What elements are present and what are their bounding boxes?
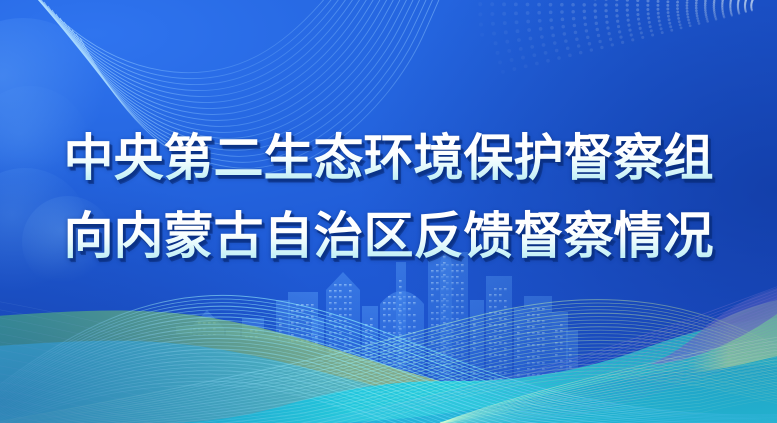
ribbon-line <box>440 384 777 423</box>
ribbon-line <box>0 344 777 423</box>
ribbon-line <box>0 349 777 423</box>
ribbon-line <box>0 353 777 423</box>
ribbon-line <box>0 338 777 423</box>
ribbon-line <box>0 372 520 423</box>
ribbon-line <box>0 340 777 423</box>
page-title-line-2: 向内蒙古自治区反馈督察情况 <box>0 200 777 272</box>
wave-band-deep-blue <box>0 335 777 423</box>
ribbon-line <box>0 334 777 423</box>
ribbon-line <box>0 295 777 414</box>
ribbon-line <box>440 387 777 423</box>
ribbon-line <box>0 360 777 423</box>
ribbon-line <box>300 309 777 423</box>
ribbon-line <box>0 367 777 423</box>
ribbon-line <box>0 337 777 423</box>
building-shape <box>428 252 468 400</box>
ribbon-line <box>0 303 777 423</box>
ribbon-line <box>0 385 777 423</box>
building-shape <box>396 262 406 400</box>
ribbon-line <box>300 294 777 423</box>
building-shape <box>242 318 264 400</box>
building-shape <box>176 326 192 400</box>
ribbon-line <box>0 306 777 418</box>
ribbon-line <box>0 300 520 423</box>
ribbon-line <box>0 323 777 423</box>
ribbon-line <box>0 371 777 423</box>
ribbon-line <box>0 356 777 423</box>
ribbon-line <box>0 348 520 423</box>
wave-band-green-right <box>600 300 777 378</box>
ribbon-line <box>300 339 777 423</box>
ribbon-line <box>0 335 777 423</box>
ribbon-line <box>300 306 777 423</box>
ribbon-line <box>0 328 777 423</box>
building-shape <box>380 291 424 400</box>
ribbon-line <box>440 378 777 423</box>
ribbon-line <box>0 317 777 423</box>
ribbon-line <box>0 300 777 423</box>
ribbon-line <box>440 371 777 423</box>
ribbon-line <box>0 356 520 423</box>
ribbon-line <box>300 282 777 423</box>
ribbon-line <box>0 347 777 423</box>
ribbon-line <box>300 291 777 423</box>
ribbon-line <box>440 394 777 423</box>
ribbon-line <box>0 342 777 423</box>
ribbon-line <box>0 357 777 423</box>
ribbon-line <box>0 331 777 423</box>
ribbon-line <box>0 303 777 418</box>
ribbon-line <box>300 345 777 423</box>
wave-band-cyan-left <box>0 341 777 423</box>
ribbon-line <box>440 339 777 423</box>
ribbon-line <box>0 299 777 416</box>
ribbon-line <box>440 346 777 423</box>
ribbon-line <box>300 333 777 423</box>
ribbon-line <box>0 310 777 420</box>
ribbon-line <box>0 378 777 423</box>
ribbon-line <box>0 340 520 423</box>
ribbon-line <box>440 349 777 423</box>
ribbon-line <box>440 374 777 423</box>
ribbon-line <box>300 288 777 423</box>
poster-banner: 中央第二生态环境保护督察组 向内蒙古自治区反馈督察情况 中央第二生态环境保护督察… <box>0 0 777 423</box>
ribbon-line <box>0 324 777 423</box>
ribbon-line <box>0 371 777 423</box>
building-shape <box>156 336 174 400</box>
building-shape <box>486 276 512 400</box>
ribbon-line <box>0 363 777 423</box>
ribbon-line <box>0 320 777 423</box>
ribbon-line <box>300 300 777 423</box>
wave-band-green <box>0 311 777 423</box>
ribbon-line <box>0 321 777 423</box>
building-shape <box>136 344 152 400</box>
building-shape <box>470 300 484 400</box>
building-shape <box>524 296 552 400</box>
ribbon-line <box>300 327 777 423</box>
ribbon-line <box>0 346 777 423</box>
building-shape <box>288 292 318 400</box>
ribbon-line <box>300 285 777 423</box>
ribbon-line <box>440 355 777 423</box>
wave-band-purple <box>650 288 777 364</box>
ribbon-line <box>440 390 777 423</box>
ribbon-line <box>440 342 777 423</box>
ribbon-line <box>0 404 520 423</box>
building-shape <box>226 330 240 400</box>
ribbon-line <box>300 318 777 423</box>
ribbon-line <box>0 388 520 423</box>
ribbon-line <box>440 368 777 423</box>
ribbon-line <box>0 310 777 423</box>
ribbon-line <box>0 378 777 423</box>
building-shape <box>264 334 276 400</box>
ribbon-line <box>300 342 777 423</box>
ribbon-line <box>0 330 777 423</box>
ribbon-line <box>0 374 777 423</box>
ribbon-line <box>0 316 520 423</box>
ribbon-line <box>0 381 777 423</box>
ribbon-line <box>0 364 520 423</box>
ribbon-line <box>440 381 777 423</box>
ribbon-line <box>0 396 520 423</box>
ribbon-line <box>300 321 777 423</box>
ribbon-line <box>300 303 777 423</box>
ribbon-line <box>300 336 777 423</box>
ribbon-line <box>300 330 777 423</box>
ribbon-line <box>440 352 777 423</box>
ribbon-line <box>0 361 777 423</box>
building-shape <box>118 352 136 400</box>
ribbon-line <box>0 351 777 423</box>
ribbon-line <box>0 332 520 423</box>
building-shape <box>552 312 568 400</box>
building-shape <box>326 272 360 400</box>
ribbon-line <box>440 358 777 423</box>
building-shape <box>190 310 224 400</box>
ribbon-line <box>300 315 777 423</box>
wave-band-teal <box>160 318 777 423</box>
ribbon-line <box>440 362 777 423</box>
ribbon-line <box>0 354 777 423</box>
building-shape <box>362 306 378 400</box>
ribbon-line <box>440 365 777 423</box>
page-title-line-1: 中央第二生态环境保护督察组 <box>0 122 777 194</box>
wave-band-teal-deep <box>330 365 777 423</box>
ribbon-line <box>0 308 520 423</box>
building-shape <box>566 330 578 400</box>
building-shape <box>276 300 290 400</box>
ribbon-line <box>0 324 520 423</box>
ribbon-line <box>0 313 777 421</box>
ribbon-line <box>300 324 777 423</box>
ribbon-line <box>0 374 777 423</box>
ribbon-line <box>0 412 520 423</box>
building-shape <box>312 318 324 400</box>
building-shape <box>514 308 524 400</box>
ribbon-line <box>0 327 777 423</box>
ribbon-line <box>0 317 777 423</box>
ribbon-line <box>0 367 777 423</box>
ribbon-line <box>300 297 777 423</box>
ribbon-line <box>0 364 777 423</box>
ribbon-line <box>0 313 777 423</box>
ribbon-line <box>0 380 520 423</box>
ribbon-line <box>440 397 777 423</box>
page-title: 中央第二生态环境保护督察组 向内蒙古自治区反馈督察情况 <box>0 122 777 272</box>
ribbon-line <box>440 336 777 423</box>
ribbon-line <box>0 306 777 423</box>
ribbon-line <box>300 312 777 423</box>
